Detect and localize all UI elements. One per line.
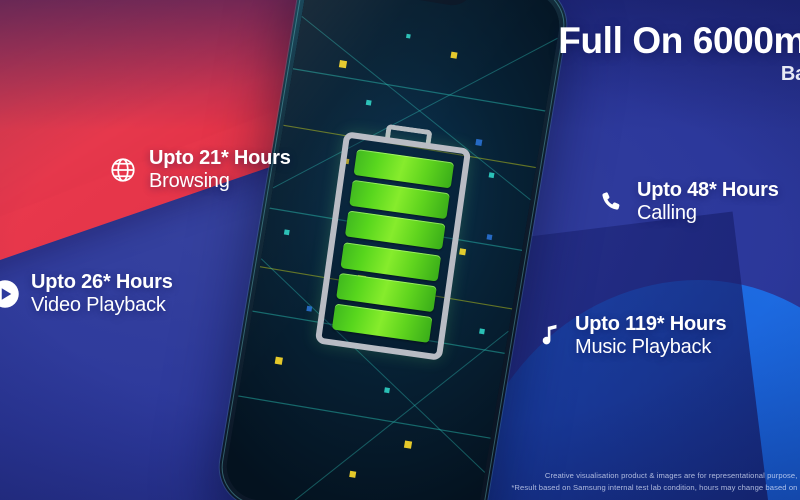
feature-music-playback: Upto 119* Hours Music Playback — [534, 314, 726, 358]
feature-video-playback-duration: Upto 26* Hours — [31, 272, 173, 294]
feature-browsing-text: Upto 21* Hours Browsing — [149, 148, 291, 192]
headline-line-1: Full On 6000m — [558, 22, 800, 59]
feature-video-playback: Upto 26* Hours Video Playback — [0, 272, 173, 316]
feature-calling-duration: Upto 48* Hours — [637, 180, 779, 202]
disclaimer: Creative visualisation product & images … — [511, 470, 800, 494]
feature-browsing-duration: Upto 21* Hours — [149, 148, 291, 170]
feature-music-playback-duration: Upto 119* Hours — [575, 314, 726, 336]
music-note-icon — [534, 321, 564, 351]
feature-music-playback-text: Upto 119* Hours Music Playback — [575, 314, 726, 358]
headline: Full On 6000m Ba — [558, 22, 800, 84]
feature-video-playback-activity: Video Playback — [31, 294, 173, 316]
disclaimer-line-2: *Result based on Samsung internal test l… — [511, 482, 800, 494]
feature-video-playback-text: Upto 26* Hours Video Playback — [31, 272, 173, 316]
disclaimer-line-1: Creative visualisation product & images … — [511, 470, 800, 482]
feature-music-playback-activity: Music Playback — [575, 336, 726, 358]
phone-icon — [596, 187, 626, 217]
headline-line-2: Ba — [558, 64, 800, 84]
feature-calling: Upto 48* Hours Calling — [596, 180, 779, 224]
feature-browsing-activity: Browsing — [149, 170, 291, 192]
feature-browsing: Upto 21* Hours Browsing — [108, 148, 291, 192]
globe-icon — [108, 155, 138, 185]
battery-cells — [332, 149, 454, 343]
feature-calling-activity: Calling — [637, 202, 779, 224]
play-circle-icon — [0, 279, 20, 309]
feature-calling-text: Upto 48* Hours Calling — [637, 180, 779, 224]
promo-banner: Full On 6000m Ba Upto 21* Hours Browsing… — [0, 0, 800, 500]
